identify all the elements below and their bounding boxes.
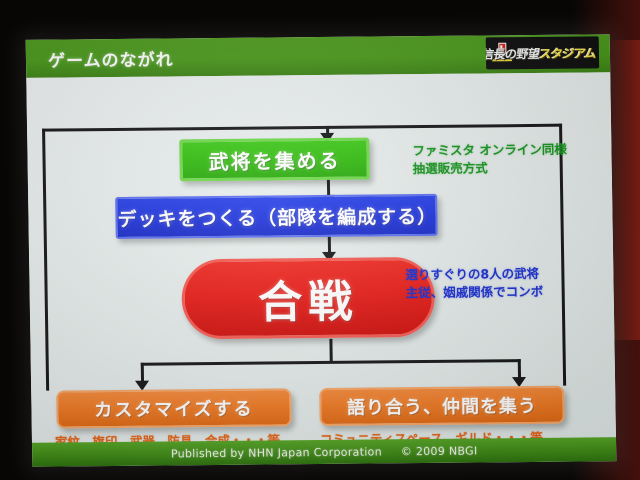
page-title: ゲームのながれ [48,45,174,71]
slide-surface: ゲームのながれ 信長の野望スタジアム [26,34,617,467]
logo-text-primary: 信長の野望 [486,46,540,61]
projected-slide-photo: ゲームのながれ 信長の野望スタジアム [0,0,640,480]
footer-credit: Published by NHN Japan Corporation © 200… [32,441,616,463]
loop-connector-top [42,124,562,132]
branch-split-bar [141,359,521,366]
flow-node-collect[interactable]: 武将を集める [179,138,370,182]
arrow-battle-stem [329,339,332,363]
flow-node-deck[interactable]: デッキをつくる（部隊を編成する） [115,194,438,239]
flow-node-battle[interactable]: 合戦 [181,257,435,339]
annotation-battle: 選りすぐりの8人の武将 主従、姻戚関係でコンボ [405,265,543,302]
logo-text-secondary: スタジアム [538,46,596,61]
game-logo: 信長の野望スタジアム [486,36,599,69]
flow-node-community[interactable]: 語り合う、仲間を集う [319,386,565,426]
diagram-canvas: 武将を集める デッキをつくる（部隊を編成する） 合戦 カスタマイズする 語り合う… [26,72,616,443]
loop-connector-left [42,129,49,391]
slide-footer-bar: Published by NHN Japan Corporation © 200… [32,437,616,467]
annotation-collect: ファミスタ オンライン同様 抽選販売方式 [412,141,567,178]
logo-text: 信長の野望スタジアム [486,44,597,62]
flow-node-customize[interactable]: カスタマイズする [56,388,292,428]
slide-header-bar: ゲームのながれ 信長の野望スタジアム [26,34,611,78]
